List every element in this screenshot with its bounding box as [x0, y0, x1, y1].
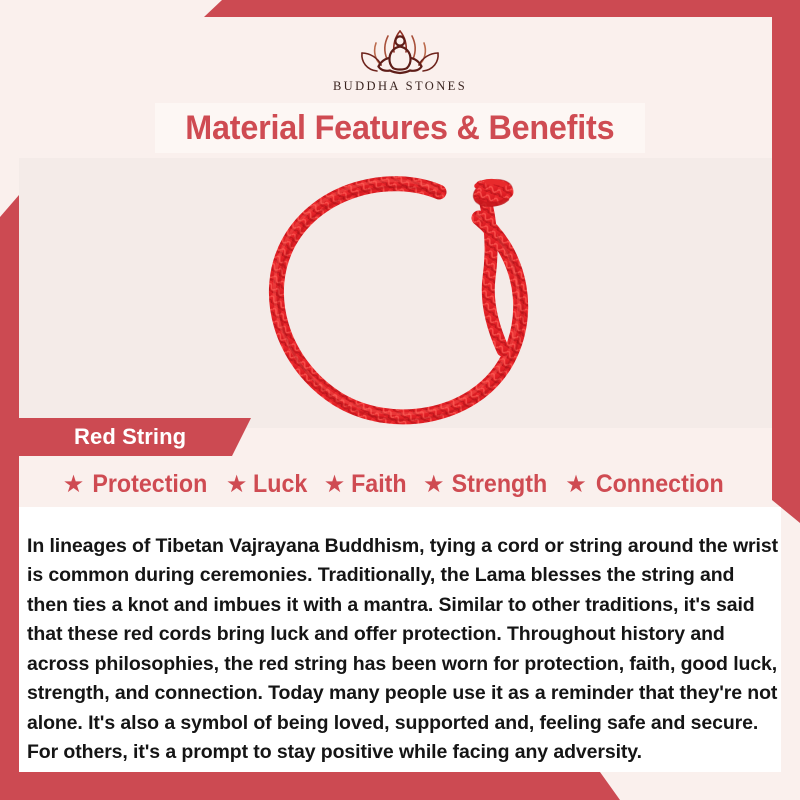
- benefit-label: Luck: [253, 470, 307, 499]
- benefit-label: Faith: [351, 470, 407, 499]
- description-panel: In lineages of Tibetan Vajrayana Buddhis…: [19, 507, 781, 772]
- red-string-bracelet-image: [241, 158, 571, 428]
- top-red-banner-decoration: [0, 0, 800, 17]
- benefit-label: Connection: [596, 470, 724, 499]
- benefit-item-faith: ★ Faith: [319, 470, 414, 499]
- benefit-label: Protection: [93, 470, 208, 499]
- bottom-red-banner-decoration: [0, 772, 800, 800]
- star-icon: ★: [324, 473, 346, 497]
- star-icon: ★: [565, 473, 587, 497]
- brand-header: BUDDHA STONES: [0, 17, 800, 100]
- page-title: Material Features & Benefits: [185, 109, 614, 148]
- benefit-item-luck: ★ Luck: [221, 470, 315, 499]
- benefits-list: ★ Protection ★ Luck ★ Faith ★ Strength ★…: [19, 462, 772, 507]
- star-icon: ★: [63, 473, 85, 497]
- infographic-page: BUDDHA STONES Material Features & Benefi…: [0, 0, 800, 800]
- benefit-label: Strength: [452, 470, 548, 499]
- benefit-item-connection: ★ Connection: [560, 470, 733, 499]
- lotus-meditation-icon: [340, 19, 460, 81]
- product-name-banner: Red String: [19, 418, 251, 456]
- benefit-item-strength: ★ Strength: [418, 470, 556, 499]
- product-name: Red String: [74, 424, 186, 450]
- brand-wordmark: BUDDHA STONES: [333, 79, 467, 94]
- star-icon: ★: [226, 473, 248, 497]
- page-title-band: Material Features & Benefits: [155, 103, 645, 153]
- star-icon: ★: [423, 473, 445, 497]
- benefit-item-protection: ★ Protection: [58, 470, 217, 499]
- left-red-strip-decoration: [0, 195, 19, 800]
- product-photo-area: [19, 158, 772, 428]
- description-text: In lineages of Tibetan Vajrayana Buddhis…: [27, 532, 779, 768]
